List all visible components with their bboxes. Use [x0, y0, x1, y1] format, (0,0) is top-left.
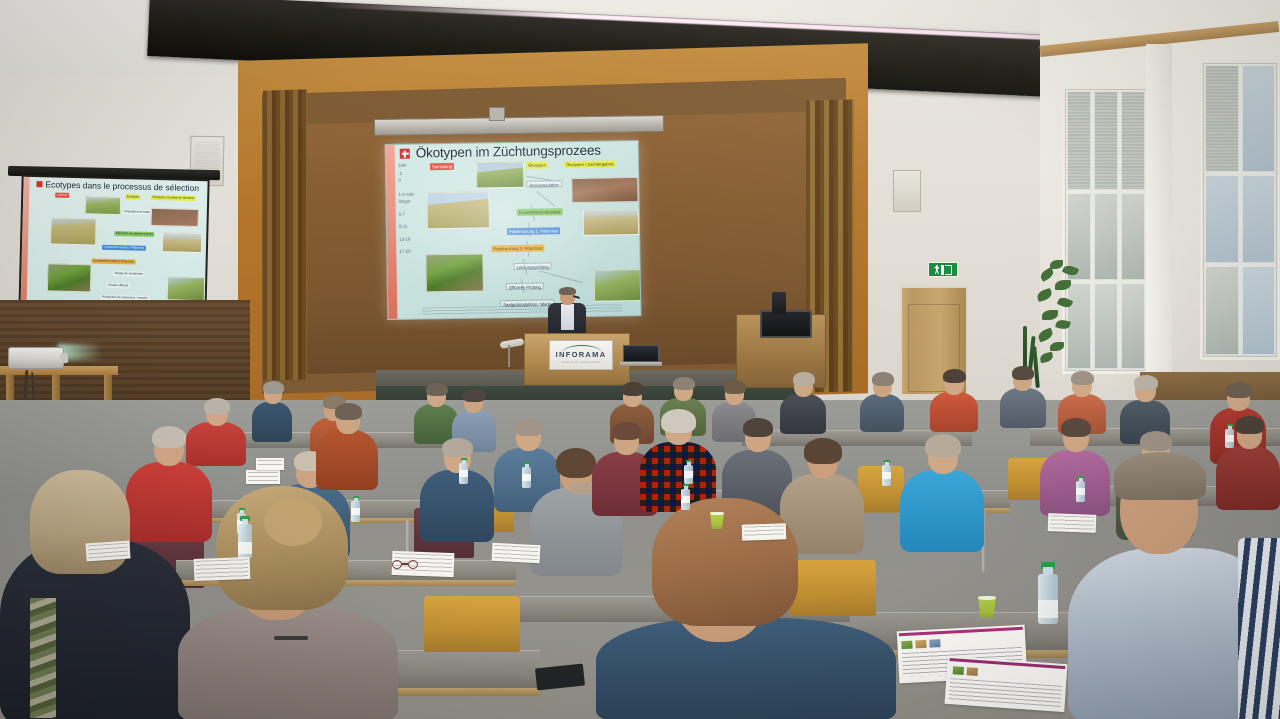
lectern-lamp-arm	[508, 345, 510, 367]
side-slide-label: Ecotypes / résultat de sélection	[151, 195, 196, 201]
water-bottle[interactable]	[1076, 476, 1085, 502]
slide-footnote	[422, 304, 622, 315]
water-bottle[interactable]	[238, 516, 252, 558]
slide-year-axis: Jahr -1 0 1-4 oder länger 5-7 8-11 13-16…	[398, 162, 422, 261]
inforama-subtext: Zentrum für Landwirtschaft	[562, 361, 601, 364]
handout-paper[interactable]	[492, 543, 541, 563]
audience-member	[420, 440, 494, 538]
handout-paper[interactable]	[256, 458, 284, 470]
hair-bun	[264, 498, 322, 546]
handout-paper[interactable]	[194, 557, 251, 581]
water-bottle[interactable]	[681, 484, 690, 510]
audience-member	[900, 436, 984, 548]
slide-label: Ökotypen	[526, 161, 548, 168]
slide-photo-seeds	[571, 177, 638, 203]
stage-curtain-left	[263, 89, 307, 380]
audience-member-foreground	[0, 470, 190, 719]
stage-monitor	[760, 310, 812, 338]
water-bottle[interactable]	[522, 462, 531, 488]
audience-member	[640, 412, 716, 508]
slide-label: Einzelpflanzenauslese	[517, 208, 563, 216]
side-slide-label: Essais de rendement	[113, 271, 144, 277]
side-slide-label: Collecte	[55, 193, 69, 198]
audience-member	[930, 370, 978, 430]
water-bottle[interactable]	[1038, 562, 1058, 624]
side-slide-title: Ecotypes dans le processus de sélection	[45, 179, 199, 193]
screen-mount	[489, 107, 505, 121]
water-bottle[interactable]	[459, 458, 468, 484]
slide-label: Basispopulation	[526, 180, 562, 188]
year-tick: 13-16	[399, 236, 421, 242]
water-bottle[interactable]	[684, 460, 693, 484]
audience-member	[252, 382, 292, 440]
side-photo-combine	[167, 276, 206, 301]
wall-speaker-right	[893, 170, 921, 212]
slide-label: Ökotypen / Zuchtergebnis	[564, 160, 616, 168]
slide-label: Sammlung	[430, 163, 454, 170]
side-photo-seeds	[151, 208, 199, 227]
side-photo-field	[50, 217, 97, 245]
inforama-arc-icon	[562, 345, 602, 353]
swiss-cross-icon	[36, 181, 42, 187]
slide-photo-combine	[594, 269, 642, 302]
water-bottle[interactable]	[351, 496, 360, 522]
side-slide-label: Sélection de plantes isolées	[114, 231, 154, 237]
year-tick: -1	[398, 170, 420, 176]
audience-member-foreground	[178, 486, 398, 719]
window-right	[1200, 60, 1280, 360]
side-photo-plots	[162, 232, 202, 253]
slide-label: Leistungsprüfung	[514, 262, 552, 270]
year-tick: 8-11	[399, 224, 421, 230]
lectern-logo-plate: INFORAMA Zentrum für Landwirtschaft	[549, 340, 613, 370]
slide-photo-harvester	[425, 253, 484, 292]
slide-label: Polykreuzung 1. Polycross	[507, 227, 560, 235]
chair[interactable]	[424, 596, 520, 652]
slide-photo-meadow	[476, 162, 524, 189]
lecture-hall-photo: Ökotypen im Züchtungsprozees Jahr -1 0 1…	[0, 0, 1280, 719]
scarf	[30, 598, 56, 718]
year-tick: 1-4 oder länger	[398, 190, 420, 204]
year-axis-label: Jahr	[398, 162, 420, 168]
audience-member	[860, 374, 904, 430]
side-slide-label: Croisement croisé 2 Polycross	[92, 258, 136, 264]
programme-brochure[interactable]	[944, 656, 1067, 712]
slide-accent-bar	[386, 145, 398, 319]
reading-glasses[interactable]	[392, 560, 418, 569]
year-tick: 5-7	[399, 211, 421, 217]
emergency-exit-icon	[928, 262, 958, 277]
side-photo-harvester	[47, 263, 92, 292]
main-projection-screen: Ökotypen im Züchtungsprozees Jahr -1 0 1…	[385, 140, 642, 320]
audience-member	[316, 404, 378, 486]
slide-label: Polykreuzung 2. Polycross	[491, 245, 544, 253]
slide-label: Offizielle Prüfung	[506, 283, 544, 291]
window-pillar	[1146, 44, 1172, 374]
audience-member-foreground	[1238, 538, 1280, 719]
slide-connector	[540, 271, 583, 283]
video-projector	[8, 347, 64, 369]
handout-paper[interactable]	[246, 470, 280, 484]
water-bottle[interactable]	[1225, 424, 1234, 448]
side-slide-label: Ecotypes	[125, 194, 140, 199]
year-tick: 0	[398, 177, 420, 183]
handout-paper[interactable]	[1048, 513, 1097, 533]
side-slide-label: Croisement croisé 1 Polycross	[102, 245, 146, 251]
year-tick: 17-20	[399, 249, 421, 255]
handout-paper[interactable]	[742, 523, 787, 541]
slide-title: Ökotypen im Züchtungsprozees	[416, 142, 634, 160]
slide-photo-plots	[583, 209, 639, 236]
swiss-cross-icon	[400, 149, 410, 159]
audience-member	[1000, 368, 1046, 426]
side-projection-assembly: Ecotypes dans le processus de sélection …	[8, 168, 220, 320]
coffee-cup[interactable]	[978, 596, 996, 618]
side-slide-label: Essais officiels	[107, 283, 130, 289]
coffee-cup[interactable]	[710, 512, 724, 529]
side-slide-label: Population de base	[123, 209, 152, 215]
slide-connector	[536, 191, 555, 207]
side-photo-meadow	[85, 196, 121, 215]
water-bottle[interactable]	[882, 460, 891, 486]
av-tower-device	[772, 292, 786, 314]
presenter-laptop[interactable]	[620, 345, 662, 367]
side-slide-accent-bar	[20, 177, 29, 311]
handout-paper[interactable]	[85, 540, 130, 561]
side-projection-screen: Ecotypes dans le processus de sélection …	[18, 175, 209, 318]
necklace	[274, 636, 308, 640]
slide-photo-field	[426, 191, 490, 229]
